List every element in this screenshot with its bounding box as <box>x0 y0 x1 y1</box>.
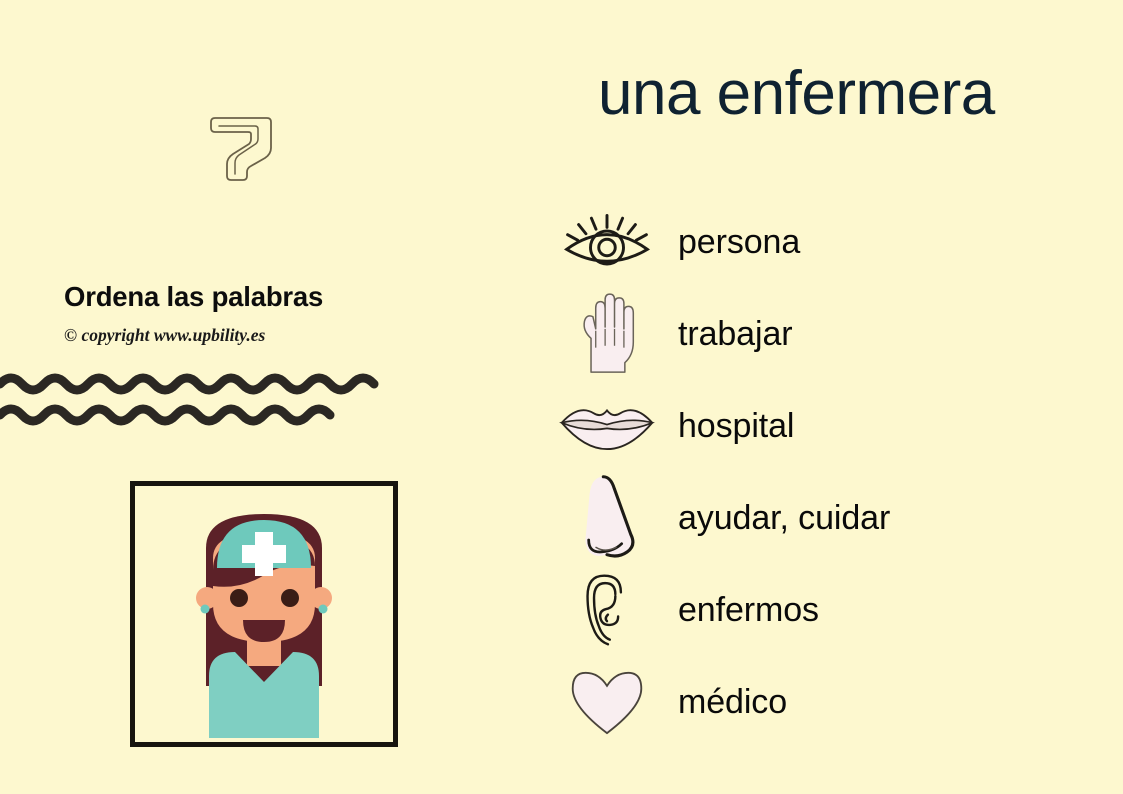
word-label: enfermos <box>678 564 819 656</box>
page-title: una enfermera <box>598 58 995 129</box>
wavy-lines-divider <box>0 368 390 434</box>
ear-icon <box>552 564 662 656</box>
list-item: médico <box>552 656 1092 748</box>
illustration-frame <box>130 481 398 747</box>
word-label: persona <box>678 196 800 288</box>
word-label: trabajar <box>678 288 792 380</box>
list-item: hospital <box>552 380 1092 472</box>
worksheet-page: Ordena las palabras © copyright www.upbi… <box>0 0 1123 794</box>
nurse-illustration <box>135 486 393 742</box>
hand-icon <box>552 288 662 380</box>
word-label: hospital <box>678 380 794 472</box>
lips-icon <box>552 380 662 472</box>
heart-icon <box>552 656 662 748</box>
number-seven-outline-icon <box>205 108 277 184</box>
word-list: persona trabajar <box>552 196 1092 748</box>
list-item: persona <box>552 196 1092 288</box>
list-item: trabajar <box>552 288 1092 380</box>
instruction-text: Ordena las palabras <box>64 281 323 313</box>
list-item: enfermos <box>552 564 1092 656</box>
eye-icon <box>552 196 662 288</box>
word-label: ayudar, cuidar <box>678 472 890 564</box>
word-label: médico <box>678 656 787 748</box>
list-item: ayudar, cuidar <box>552 472 1092 564</box>
copyright-text: © copyright www.upbility.es <box>64 325 265 346</box>
nose-icon <box>552 472 662 564</box>
